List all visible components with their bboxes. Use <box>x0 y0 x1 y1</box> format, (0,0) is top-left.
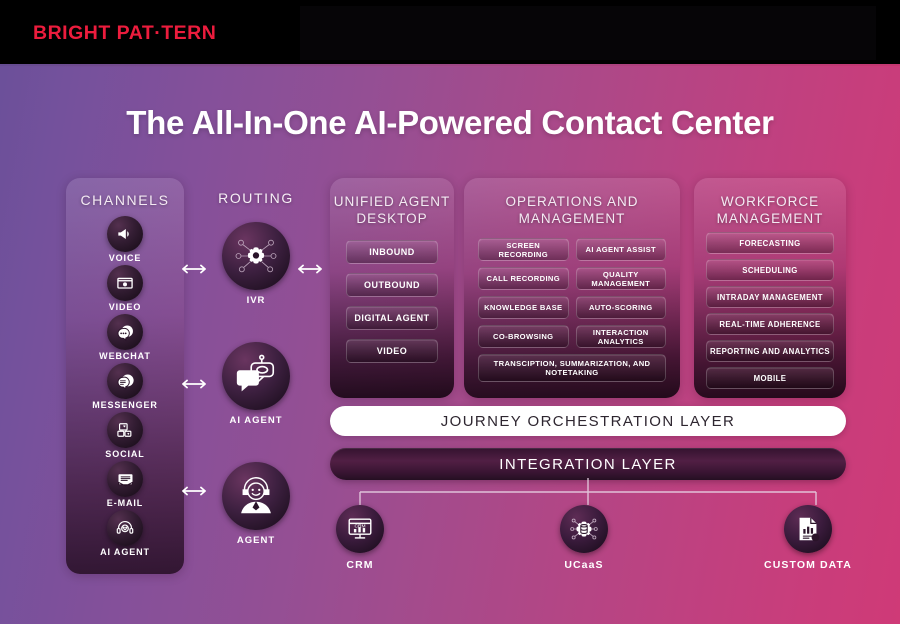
integration-item-crm[interactable]: CRM CRM <box>300 505 420 571</box>
ops-chip-call-recording[interactable]: CALL RECORDING <box>478 267 569 290</box>
headset-bot-icon <box>107 510 143 546</box>
wfm-chip-reporting-and-analytics[interactable]: REPORTING AND ANALYTICS <box>706 340 834 362</box>
workforce-management-title: WORKFORCE MANAGEMENT <box>694 193 846 227</box>
operations-management-title: OPERATIONS AND MANAGEMENT <box>464 193 680 227</box>
infographic-canvas: BRIGHT PAT·TERN The All-In-One AI-Powere… <box>0 0 900 624</box>
wfm-chip-intraday-management[interactable]: INTRADAY MANAGEMENT <box>706 286 834 308</box>
wfm-chip-scheduling[interactable]: SCHEDULING <box>706 259 834 281</box>
channel-item-ai-agent[interactable]: AI AGENT <box>66 510 184 557</box>
channel-item-video[interactable]: VIDEO <box>66 265 184 312</box>
channels-panel: CHANNELS VOICE VIDEO <box>66 178 184 574</box>
channels-list: VOICE VIDEO <box>66 216 184 559</box>
ops-chip-quality-management[interactable]: QUALITY MANAGEMENT <box>576 267 667 290</box>
chat-bot-icon <box>222 342 290 410</box>
ops-chip-ai-agent-assist[interactable]: AI AGENT ASSIST <box>576 238 667 261</box>
unified-agent-desktop-title: UNIFIED AGENT DESKTOP <box>330 193 454 227</box>
server-network-icon <box>560 505 608 553</box>
channel-item-webchat[interactable]: WEBCHAT <box>66 314 184 361</box>
ops-chip-transcription-summarization[interactable]: TRANSCIPTION, SUMMARIZATION, AND NOTETAK… <box>478 354 666 382</box>
wfm-chip-forecasting[interactable]: FORECASTING <box>706 232 834 254</box>
uad-chip-digital-agent[interactable]: DIGITAL AGENT <box>346 306 438 330</box>
channel-item-email[interactable]: E-MAIL <box>66 461 184 508</box>
chat-dots-icon <box>107 314 143 350</box>
header-right-panel <box>300 6 876 60</box>
channel-label: AI AGENT <box>66 547 184 557</box>
ops-chip-auto-scoring[interactable]: AUTO-SCORING <box>576 296 667 319</box>
wfm-chip-mobile[interactable]: MOBILE <box>706 367 834 389</box>
integration-layer-bar[interactable]: INTEGRATION LAYER <box>330 448 846 480</box>
page-title: The All-In-One AI-Powered Contact Center <box>0 104 900 142</box>
integration-label: UCaaS <box>524 559 644 571</box>
brand-logo: BRIGHT PAT·TERN <box>33 22 216 45</box>
arrow-channels-to-ai-agent <box>182 377 206 391</box>
unified-agent-desktop-panel: UNIFIED AGENT DESKTOP INBOUND OUTBOUND D… <box>330 178 454 398</box>
uad-chip-video[interactable]: VIDEO <box>346 339 438 363</box>
channel-label: E-MAIL <box>66 498 184 508</box>
channel-label: VIDEO <box>66 302 184 312</box>
channels-title: CHANNELS <box>66 192 184 208</box>
arrow-ivr-to-desktop <box>298 262 322 276</box>
video-icon <box>107 265 143 301</box>
routing-title: ROUTING <box>192 190 320 206</box>
unified-agent-desktop-list: INBOUND OUTBOUND DIGITAL AGENT VIDEO <box>346 240 438 372</box>
channel-item-social[interactable]: SOCIAL <box>66 412 184 459</box>
operations-management-panel: OPERATIONS AND MANAGEMENT SCREEN RECORDI… <box>464 178 680 398</box>
ops-chip-co-browsing[interactable]: CO-BROWSING <box>478 325 569 348</box>
envelope-icon <box>107 461 143 497</box>
uad-chip-outbound[interactable]: OUTBOUND <box>346 273 438 297</box>
operations-management-list: SCREEN RECORDING AI AGENT ASSIST CALL RE… <box>478 238 666 382</box>
megaphone-icon <box>107 216 143 252</box>
header-bar: BRIGHT PAT·TERN <box>0 0 900 66</box>
arrow-channels-to-agent <box>182 484 206 498</box>
header-divider <box>0 64 900 67</box>
wfm-chip-real-time-adherence[interactable]: REAL-TIME ADHERENCE <box>706 313 834 335</box>
channel-label: WEBCHAT <box>66 351 184 361</box>
messenger-icon <box>107 363 143 399</box>
channel-label: MESSENGER <box>66 400 184 410</box>
journey-orchestration-layer-bar[interactable]: JOURNEY ORCHESTRATION LAYER <box>330 406 846 436</box>
routing-label: AI AGENT <box>192 415 320 426</box>
channel-label: SOCIAL <box>66 449 184 459</box>
workforce-management-list: FORECASTING SCHEDULING INTRADAY MANAGEME… <box>706 232 834 394</box>
uad-chip-inbound[interactable]: INBOUND <box>346 240 438 264</box>
integration-label: CUSTOM DATA <box>748 559 868 571</box>
channel-item-voice[interactable]: VOICE <box>66 216 184 263</box>
document-chart-icon <box>784 505 832 553</box>
ops-chip-knowledge-base[interactable]: KNOWLEDGE BASE <box>478 296 569 319</box>
workforce-management-panel: WORKFORCE MANAGEMENT FORECASTING SCHEDUL… <box>694 178 846 398</box>
person-headset-icon <box>222 462 290 530</box>
integration-label: CRM <box>300 559 420 571</box>
integration-item-ucaas[interactable]: UCaaS <box>524 505 644 571</box>
routing-item-ai-agent[interactable]: AI AGENT <box>192 342 320 426</box>
integration-item-custom-data[interactable]: CUSTOM DATA <box>748 505 868 571</box>
gear-network-icon <box>222 222 290 290</box>
channel-item-messenger[interactable]: MESSENGER <box>66 363 184 410</box>
ops-chip-screen-recording[interactable]: SCREEN RECORDING <box>478 238 569 261</box>
channel-label: VOICE <box>66 253 184 263</box>
social-hearts-icon <box>107 412 143 448</box>
arrow-channels-to-ivr <box>182 262 206 276</box>
integration-connectors <box>330 478 846 506</box>
monitor-chart-icon: CRM <box>336 505 384 553</box>
routing-label: IVR <box>192 295 320 306</box>
ops-chip-interaction-analytics[interactable]: INTERACTION ANALYTICS <box>576 325 667 348</box>
